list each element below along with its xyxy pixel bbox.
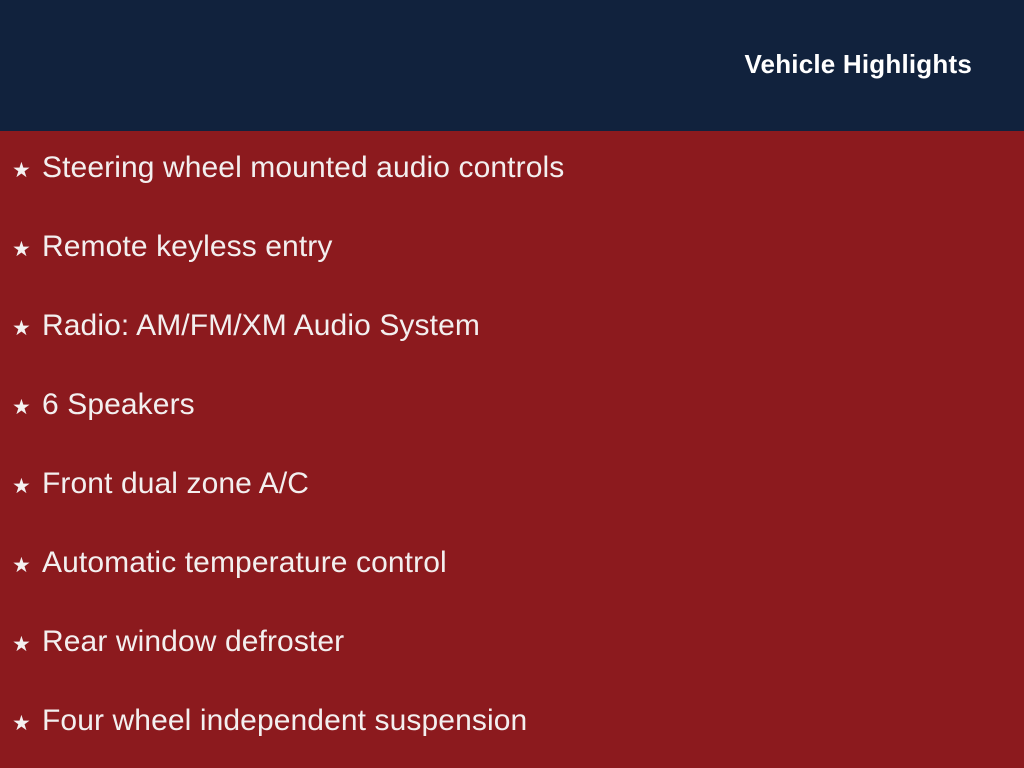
list-item: ★ Front dual zone A/C — [0, 469, 1024, 548]
list-item: ★ Automatic temperature control — [0, 548, 1024, 627]
star-icon: ★ — [12, 630, 42, 660]
list-item: ★ Four wheel independent suspension — [0, 706, 1024, 768]
list-item: ★ Steering wheel mounted audio controls — [0, 153, 1024, 232]
star-icon: ★ — [12, 235, 42, 265]
star-icon: ★ — [12, 156, 42, 186]
header-band: Vehicle Highlights — [0, 0, 1024, 131]
highlights-body: ★ Steering wheel mounted audio controls … — [0, 131, 1024, 768]
star-icon: ★ — [12, 472, 42, 502]
list-item-label: Front dual zone A/C — [42, 469, 309, 499]
vehicle-highlights-slide: Vehicle Highlights ★ Steering wheel moun… — [0, 0, 1024, 768]
star-icon: ★ — [12, 709, 42, 739]
list-item-label: 6 Speakers — [42, 390, 195, 420]
star-icon: ★ — [12, 393, 42, 423]
list-item-label: Steering wheel mounted audio controls — [42, 153, 564, 183]
list-item: ★ Radio: AM/FM/XM Audio System — [0, 311, 1024, 390]
list-item-label: Rear window defroster — [42, 627, 344, 657]
list-item-label: Radio: AM/FM/XM Audio System — [42, 311, 480, 341]
page-title: Vehicle Highlights — [744, 48, 972, 80]
list-item-label: Four wheel independent suspension — [42, 706, 527, 736]
list-item-label: Automatic temperature control — [42, 548, 447, 578]
list-item: ★ Remote keyless entry — [0, 232, 1024, 311]
list-item: ★ Rear window defroster — [0, 627, 1024, 706]
list-item: ★ 6 Speakers — [0, 390, 1024, 469]
vehicle-feature-list: ★ Steering wheel mounted audio controls … — [0, 131, 1024, 768]
star-icon: ★ — [12, 314, 42, 344]
star-icon: ★ — [12, 551, 42, 581]
list-item-label: Remote keyless entry — [42, 232, 332, 262]
